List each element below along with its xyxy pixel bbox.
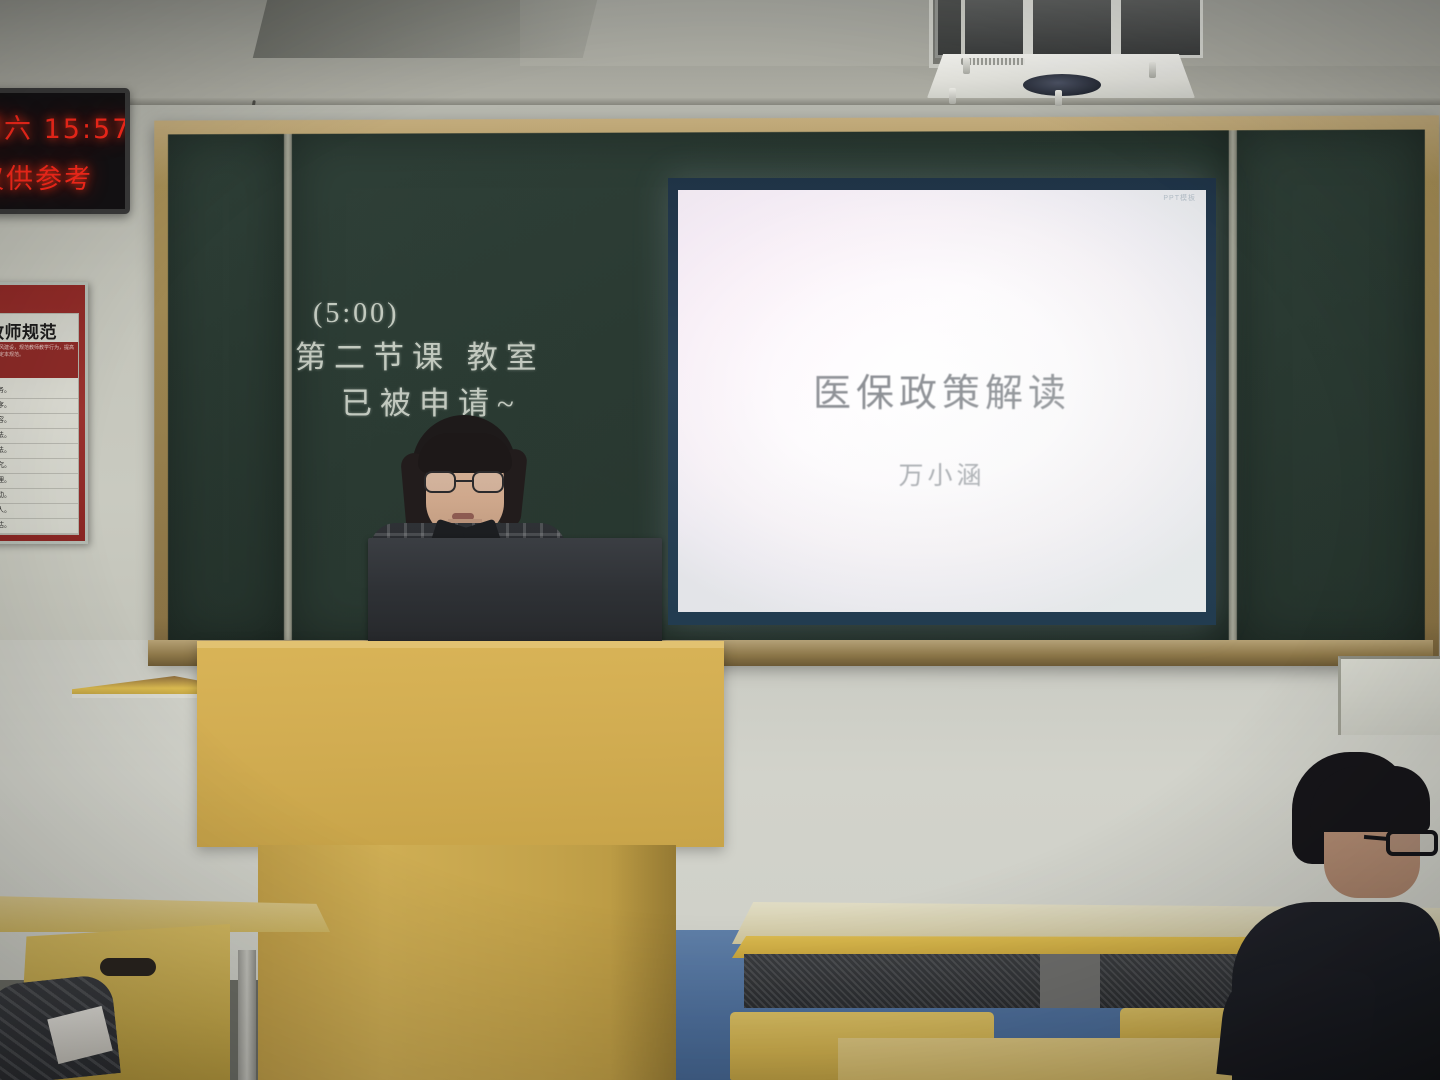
chalk-line-room: 第二节课 教室 [295,337,595,379]
list-item: 进行课程管理。 [0,474,79,489]
projector-mount-bolt [949,88,956,104]
projector-security-cage [935,0,1203,58]
chair-handle-cutout [100,958,156,976]
list-item: 改进考试方法。 [0,444,79,459]
led-clock-sign: 期六 15:57 仅供参考 [0,88,130,214]
chalkboard-panel-left [168,134,284,642]
lectern-base-shadow [610,845,676,1080]
list-item: 指导课外活动。 [0,489,79,504]
glasses-icon [1386,830,1440,856]
glasses-lens [1386,830,1438,856]
list-item: 接受教学评估。 [0,519,79,534]
chalkboard-slide-rail [284,134,292,642]
chalkboard-panel-right [1237,130,1425,647]
projection-glare [678,190,1206,612]
poster-title: 大学教师规范 [0,318,79,343]
glasses-lens [472,471,504,493]
poster-top-glyph: 规 [0,289,29,309]
led-time-text: 期六 15:57 [0,107,130,146]
list-item: 保证教学内容。 [0,414,79,429]
list-item: 参与教学研究。 [0,459,79,474]
desk-panel-gap [1040,954,1100,1008]
cage-bar [1111,0,1121,58]
chair-leg [238,950,256,1080]
poster-inner-panel: 大学教师规范 为进一步加强师德师风建设，规范教师教学行为，提高教育教学质量，特制… [0,313,79,535]
led-notice-text: 仅供参考 [0,157,130,196]
chalk-line-time: (5:00) [313,295,595,333]
seated-attendee-right [1228,752,1440,1080]
classroom-scene: 期六 15:57 仅供参考 规 大学教师规范 为进一步加强师德师风建设，规范教师… [0,0,1440,1080]
ceiling-beam-shadow [253,0,597,58]
projector-mount-bolt [963,58,970,74]
chalkboard-slide-rail [1229,130,1237,645]
list-item: 维护教学秩序。 [0,399,79,414]
projector-mount-bolt [1149,62,1156,78]
projector-vent [961,58,1025,65]
glasses-lens [424,471,456,493]
teacher-standards-poster: 规 大学教师规范 为进一步加强师德师风建设，规范教师教学行为，提高教育教学质量，… [0,282,88,544]
wall-shelf-edge [72,694,202,698]
podium-monitor[interactable] [368,538,662,646]
poster-rules-list: 承担教学任务。 维护教学秩序。 保证教学内容。 讲求教学方法。 改进考试方法。 … [0,384,79,534]
wall-whiteboard-panel [1338,656,1440,735]
list-item: 讲求教学方法。 [0,429,79,444]
projector-mount-bolt [1055,90,1062,106]
projection-screen-bezel: PPT模板 医保政策解读 万小涵 [668,178,1216,625]
attendee-hair-front [1310,766,1430,832]
presenter-bangs [418,433,512,473]
list-item: 践行教书育人。 [0,504,79,519]
cage-bar [1023,0,1033,58]
lectern-top [197,641,724,847]
chalkboard-handwriting: (5:00) 第二节课 教室 已被申请~ [295,295,595,424]
ceiling-conduit [0,98,1440,105]
lectern-top-lip [197,641,724,648]
ceiling-projector [905,0,1205,116]
list-item: 承担教学任务。 [0,384,79,399]
glasses-bridge [456,480,472,482]
projector-lens-icon [1023,74,1101,96]
glasses-icon [422,471,508,493]
poster-intro-text: 为进一步加强师德师风建设，规范教师教学行为，提高教育教学质量，特制定本规范。 [0,342,78,378]
